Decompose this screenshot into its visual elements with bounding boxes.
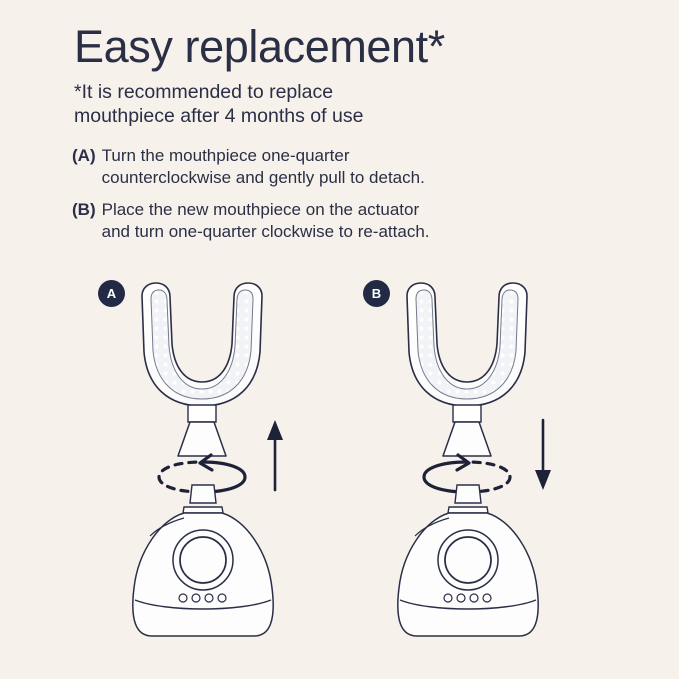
flared-stem-connector — [443, 422, 491, 456]
actuator-base — [398, 485, 538, 636]
page-subtitle: *It is recommended to replace mouthpiece… — [74, 80, 363, 129]
panel-a-artwork — [80, 270, 380, 670]
actuator-base — [133, 485, 273, 636]
step-b-text: Place the new mouthpiece on the actuator… — [102, 199, 430, 244]
easy-replacement-infographic: Easy replacement* *It is recommended to … — [0, 0, 679, 679]
mouthpiece-neck — [188, 405, 216, 422]
direction-arrow-down — [535, 420, 551, 490]
instruction-step-a: (A) Turn the mouthpiece one-quarter coun… — [72, 145, 542, 190]
panel-b-artwork — [345, 270, 645, 670]
page-title: Easy replacement* — [74, 22, 445, 72]
step-a-tag: (A) — [72, 145, 102, 167]
step-a-text: Turn the mouthpiece one-quarter counterc… — [102, 145, 425, 190]
step-b-tag: (B) — [72, 199, 102, 221]
diagram-panel-a: A — [80, 270, 380, 670]
flared-stem-connector — [178, 422, 226, 456]
diagram-panel-b: B — [345, 270, 645, 670]
mouthpiece-neck — [453, 405, 481, 422]
instruction-step-b: (B) Place the new mouthpiece on the actu… — [72, 199, 542, 244]
direction-arrow-up — [267, 420, 283, 490]
instruction-list: (A) Turn the mouthpiece one-quarter coun… — [72, 145, 542, 253]
